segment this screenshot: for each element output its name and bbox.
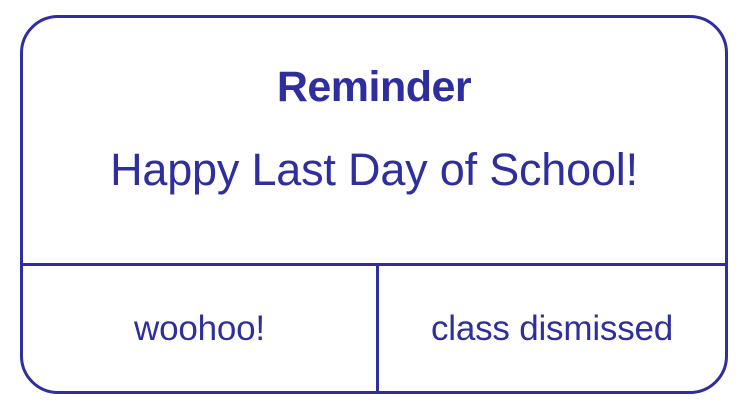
footer-cell-left-label: woohoo! bbox=[134, 311, 265, 346]
footer-cell-right[interactable]: class dismissed bbox=[379, 266, 725, 391]
footer-cell-left[interactable]: woohoo! bbox=[23, 266, 379, 391]
card-subtitle: Happy Last Day of School! bbox=[110, 147, 638, 192]
footer-cell-right-label: class dismissed bbox=[431, 311, 673, 346]
reminder-card: Reminder Happy Last Day of School! wooho… bbox=[20, 15, 728, 394]
page-title: Reminder bbox=[277, 66, 471, 109]
screenshot-canvas: Reminder Happy Last Day of School! wooho… bbox=[0, 0, 750, 410]
card-header-section: Reminder Happy Last Day of School! bbox=[23, 18, 725, 266]
card-footer-section: woohoo! class dismissed bbox=[23, 266, 725, 391]
